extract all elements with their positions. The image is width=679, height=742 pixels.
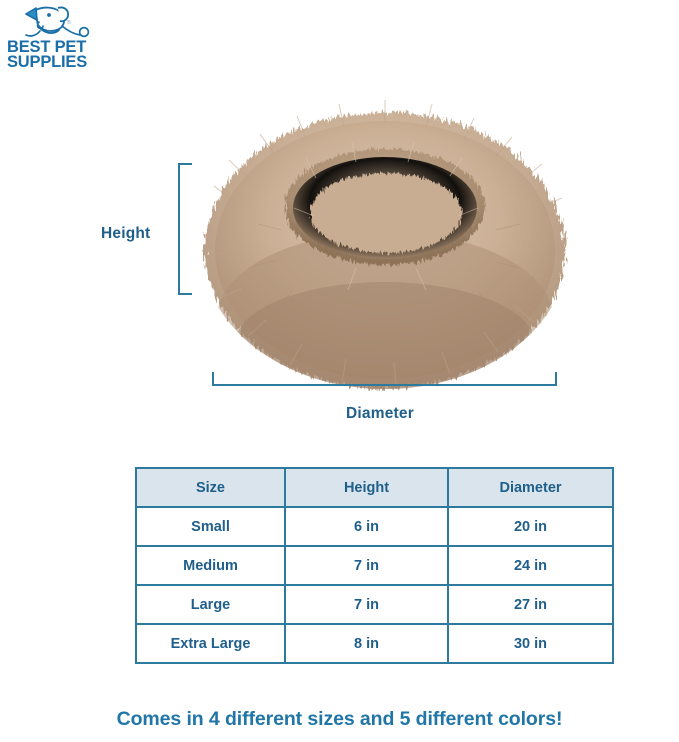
brand-wordmark-line2: SUPPLIES bbox=[7, 53, 87, 70]
table-header-diameter: Diameter bbox=[448, 468, 613, 507]
cell-diameter: 27 in bbox=[448, 585, 613, 624]
table-row: Large 7 in 27 in bbox=[136, 585, 613, 624]
footer-caption: Comes in 4 different sizes and 5 differe… bbox=[0, 708, 679, 731]
cell-diameter: 30 in bbox=[448, 624, 613, 663]
table-header-row: Size Height Diameter bbox=[136, 468, 613, 507]
cell-diameter: 24 in bbox=[448, 546, 613, 585]
brand-logo: ® BEST PET SUPPLIES bbox=[6, 4, 106, 70]
cell-height: 6 in bbox=[285, 507, 448, 546]
cell-size: Medium bbox=[136, 546, 285, 585]
table-row: Medium 7 in 24 in bbox=[136, 546, 613, 585]
table-header-size: Size bbox=[136, 468, 285, 507]
cell-diameter: 20 in bbox=[448, 507, 613, 546]
table-header-height: Height bbox=[285, 468, 448, 507]
diameter-bracket bbox=[212, 372, 557, 386]
diameter-label: Diameter bbox=[346, 405, 414, 423]
table-row: Small 6 in 20 in bbox=[136, 507, 613, 546]
dog-logo-icon: ® BEST PET SUPPLIES bbox=[6, 4, 106, 70]
table-row: Extra Large 8 in 30 in bbox=[136, 624, 613, 663]
cell-height: 8 in bbox=[285, 624, 448, 663]
pet-bed-image bbox=[196, 82, 574, 392]
cell-size: Small bbox=[136, 507, 285, 546]
registered-trademark: ® bbox=[67, 19, 71, 26]
product-figure: Height Diameter bbox=[0, 76, 679, 446]
height-label: Height bbox=[101, 225, 150, 243]
cell-height: 7 in bbox=[285, 585, 448, 624]
cell-size: Extra Large bbox=[136, 624, 285, 663]
cell-height: 7 in bbox=[285, 546, 448, 585]
cell-size: Large bbox=[136, 585, 285, 624]
bed-cushion bbox=[310, 173, 462, 253]
height-bracket bbox=[178, 163, 192, 295]
size-table: Size Height Diameter Small 6 in 20 in Me… bbox=[135, 467, 614, 664]
